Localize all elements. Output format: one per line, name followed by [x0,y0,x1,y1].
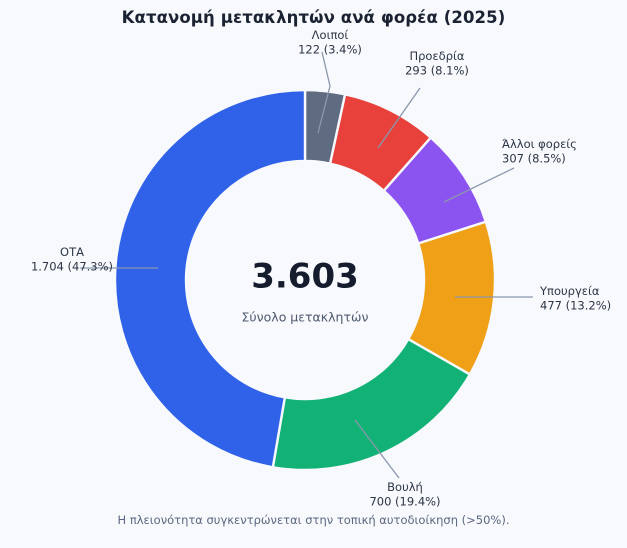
slice-label-2: Άλλοι φορείς307 (8.5%) [502,137,577,166]
slice-label-3: Υπουργεία477 (13.2%) [539,284,611,313]
slice-label-value-2: 307 (8.5%) [502,152,566,166]
slice-label-5: ΟΤΑ1.704 (47.3%) [31,245,113,274]
donut-chart-svg: Λοιποί122 (3.4%)Προεδρία293 (8.1%)Άλλοι … [0,0,627,548]
slice-label-name-4: Βουλή [387,480,423,494]
slice-label-value-0: 122 (3.4%) [298,43,362,57]
slice-label-name-5: ΟΤΑ [60,245,84,259]
slice-label-4: Βουλή700 (19.4%) [369,480,440,509]
donut-chart-container: Κατανομή μετακλητών ανά φορέα (2025) Λοι… [0,0,627,548]
slice-label-value-3: 477 (13.2%) [540,299,611,313]
center-total-value: 3.603 [251,257,359,297]
slice-label-1: Προεδρία293 (8.1%) [405,49,469,78]
slice-label-name-3: Υπουργεία [539,284,600,298]
slice-label-value-1: 293 (8.1%) [405,64,469,78]
slice-label-name-1: Προεδρία [409,49,464,63]
slice-label-0: Λοιποί122 (3.4%) [298,28,362,57]
slice-label-name-2: Άλλοι φορείς [502,137,577,151]
slice-label-value-4: 700 (19.4%) [369,495,440,509]
chart-footnote: Η πλειονότητα συγκεντρώνεται στην τοπική… [0,513,627,527]
slice-label-value-5: 1.704 (47.3%) [31,260,113,274]
slice-label-name-0: Λοιποί [312,28,349,42]
donut-segment-4[interactable] [273,339,470,470]
center-total-caption: Σύνολο μετακλητών [242,310,369,325]
